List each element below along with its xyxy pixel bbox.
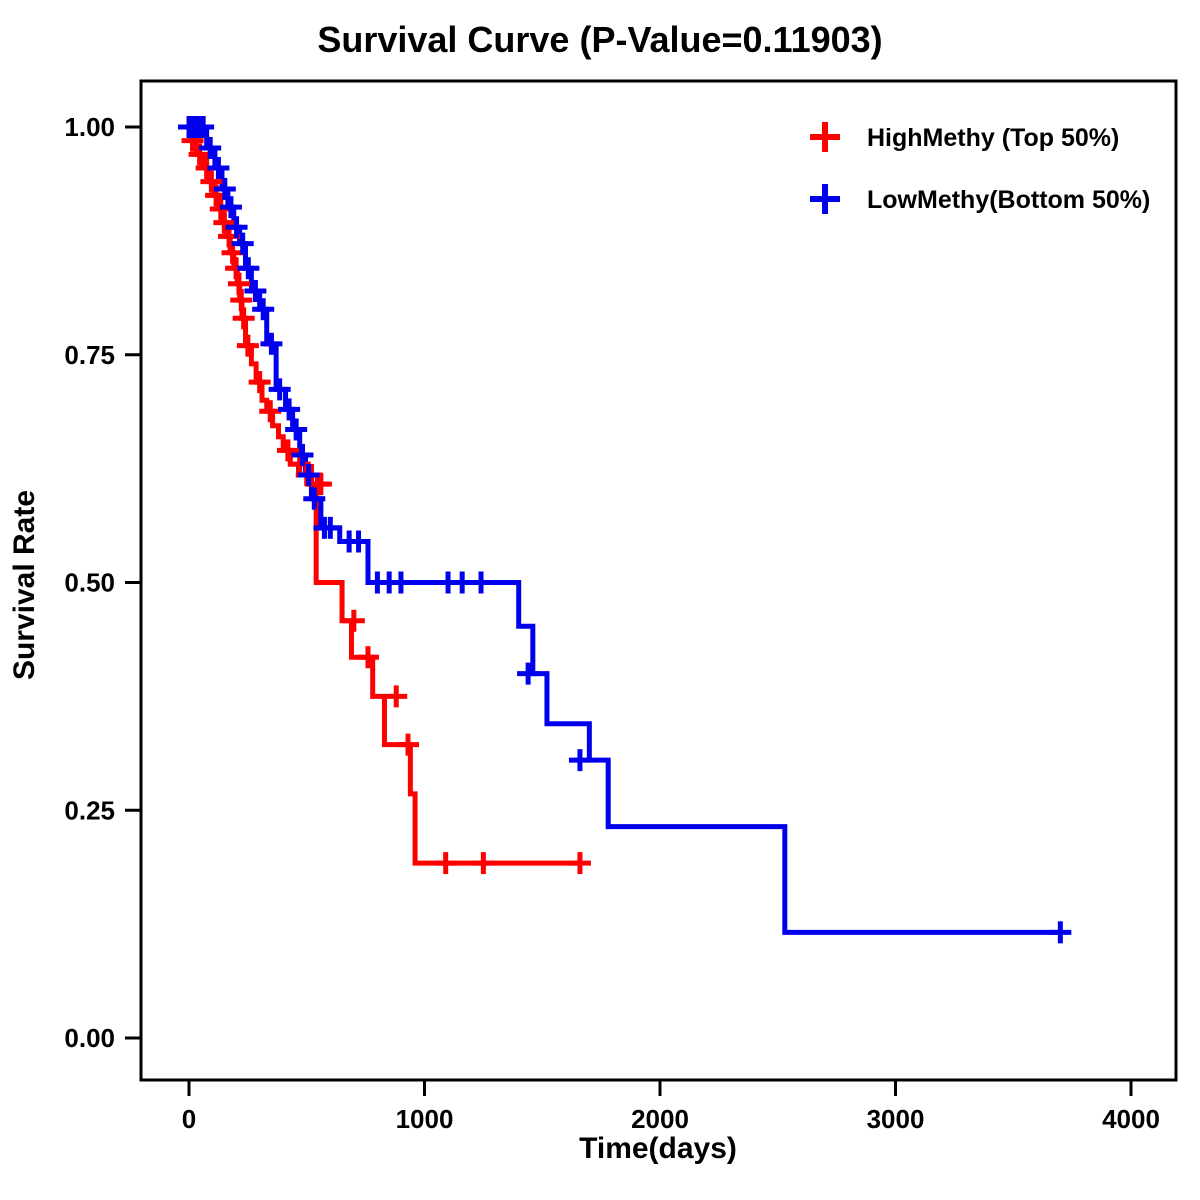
x-tick-label: 4000 <box>1102 1104 1160 1134</box>
x-tick-label: 1000 <box>396 1104 454 1134</box>
x-axis-ticks: 01000200030004000 <box>182 1080 1160 1134</box>
y-axis-title: Survival Rate <box>8 490 41 680</box>
censor-mark <box>569 852 591 874</box>
censor-mark <box>385 685 407 707</box>
y-tick-label: 1.00 <box>64 112 115 142</box>
censor-mark <box>357 646 379 668</box>
y-tick-label: 0.25 <box>64 795 115 825</box>
censor-mark <box>472 852 494 874</box>
x-axis-title: Time(days) <box>579 1132 737 1165</box>
y-tick-label: 0.50 <box>64 568 115 598</box>
survival-curve-chart: Survival Curve (P-Value=0.11903) 0100020… <box>0 0 1200 1200</box>
censor-mark <box>233 307 255 329</box>
x-tick-label: 3000 <box>867 1104 925 1134</box>
x-tick-label: 2000 <box>631 1104 689 1134</box>
censor-marks-group <box>178 116 1071 943</box>
censor-mark <box>259 400 281 422</box>
censor-mark <box>397 734 419 756</box>
censor-mark <box>278 398 300 420</box>
x-tick-label: 0 <box>182 1104 196 1134</box>
censor-mark <box>517 663 539 685</box>
legend-item-low-methy[interactable]: LowMethy(Bottom 50%) <box>810 184 1150 214</box>
legend-label: LowMethy(Bottom 50%) <box>867 186 1150 214</box>
censor-mark <box>470 572 492 594</box>
censor-mark <box>237 335 259 357</box>
y-tick-label: 0.75 <box>64 340 115 370</box>
y-tick-label: 0.00 <box>64 1023 115 1053</box>
censor-mark <box>451 572 473 594</box>
censor-mark <box>390 572 412 594</box>
censor-mark <box>249 371 271 393</box>
y-axis-ticks: 0.000.250.500.751.00 <box>64 112 141 1053</box>
legend-label: HighMethy (Top 50%) <box>867 124 1119 152</box>
censor-mark <box>1049 921 1071 943</box>
censor-mark <box>260 333 282 355</box>
censor-mark <box>343 610 365 632</box>
page-title: Survival Curve (P-Value=0.11903) <box>317 19 882 60</box>
censor-mark <box>435 852 457 874</box>
legend-item-high-methy[interactable]: HighMethy (Top 50%) <box>810 122 1119 152</box>
survival-chart-page: Survival Curve (P-Value=0.11903) 0100020… <box>0 0 1200 1200</box>
censor-mark <box>285 418 307 440</box>
censor-mark <box>277 439 299 461</box>
legend[interactable]: HighMethy (Top 50%)LowMethy(Bottom 50%) <box>810 122 1150 214</box>
